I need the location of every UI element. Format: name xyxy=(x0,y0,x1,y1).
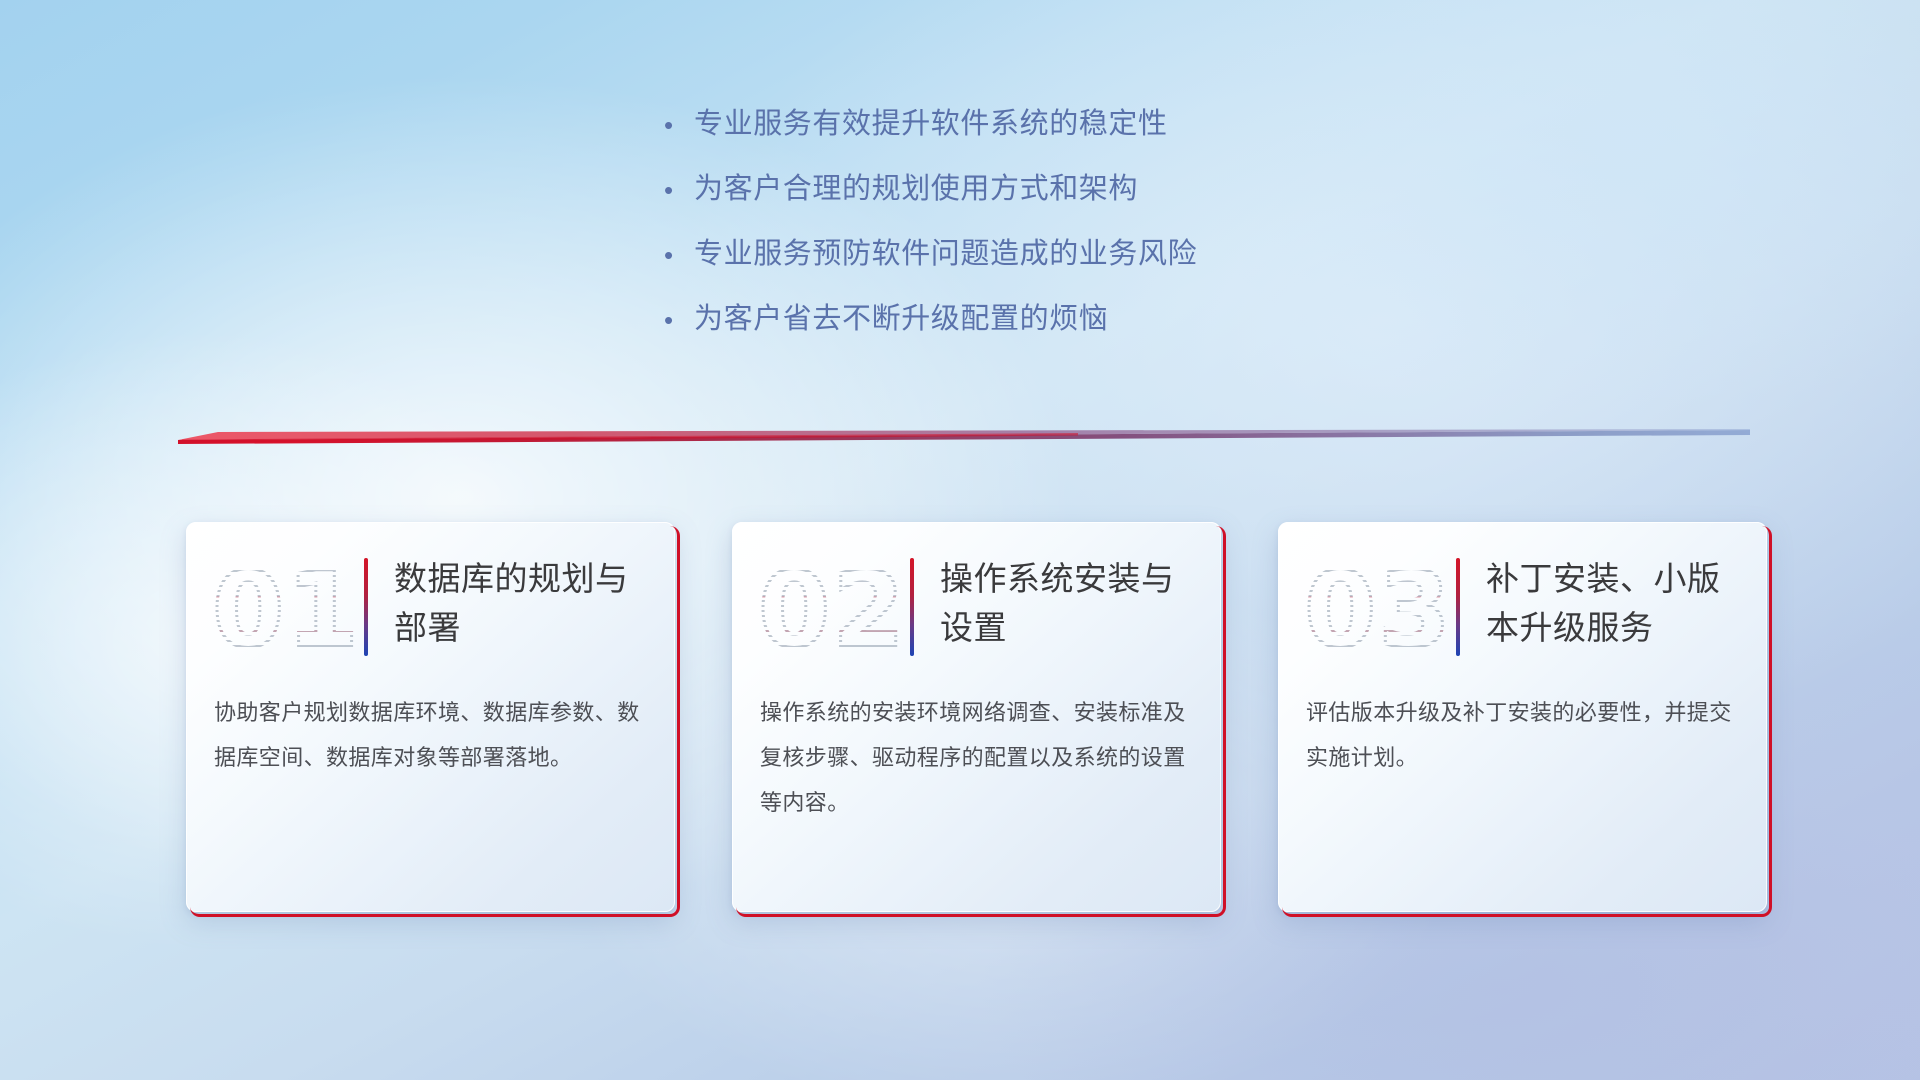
card-number-glyph-accent: 03 xyxy=(1304,550,1448,670)
card-title: 补丁安装、小版本升级服务 xyxy=(1486,544,1737,652)
list-item: • 为客户省去不断升级配置的烦恼 xyxy=(664,299,1564,364)
feature-card-row: 01 01 数据库的规划与部署 协助客户规划数据库环境、数据库参数、数据库空间、… xyxy=(186,522,1767,912)
slide-canvas: • 专业服务有效提升软件系统的稳定性 • 为客户合理的规划使用方式和架构 • 专… xyxy=(0,0,1920,1080)
card-number: 01 01 xyxy=(212,550,356,670)
bullet-marker-icon: • xyxy=(664,235,694,275)
card-title: 操作系统安装与设置 xyxy=(940,544,1191,652)
feature-card[interactable]: 02 02 操作系统安装与设置 操作系统的安装环境网络调查、安装标准及复核步骤、… xyxy=(732,522,1221,912)
section-divider xyxy=(178,418,1750,444)
card-title: 数据库的规划与部署 xyxy=(394,544,645,652)
bullet-list: • 专业服务有效提升软件系统的稳定性 • 为客户合理的规划使用方式和架构 • 专… xyxy=(664,104,1564,364)
card-number: 03 03 xyxy=(1304,550,1448,670)
bullet-text: 专业服务有效提升软件系统的稳定性 xyxy=(694,104,1168,144)
bullet-text: 为客户合理的规划使用方式和架构 xyxy=(694,169,1138,209)
card-body-text: 评估版本升级及补丁安装的必要性，并提交实施计划。 xyxy=(1278,690,1767,780)
card-accent-bar xyxy=(1456,558,1460,656)
card-header: 02 02 操作系统安装与设置 xyxy=(732,522,1221,690)
card-body-text: 操作系统的安装环境网络调查、安装标准及复核步骤、驱动程序的配置以及系统的设置等内… xyxy=(732,690,1221,825)
bullet-marker-icon: • xyxy=(664,170,694,210)
feature-card[interactable]: 01 01 数据库的规划与部署 协助客户规划数据库环境、数据库参数、数据库空间、… xyxy=(186,522,675,912)
bullet-marker-icon: • xyxy=(664,105,694,145)
card-accent-bar xyxy=(364,558,368,656)
list-item: • 为客户合理的规划使用方式和架构 xyxy=(664,169,1564,234)
bullet-marker-icon: • xyxy=(664,300,694,340)
feature-card[interactable]: 03 03 补丁安装、小版本升级服务 评估版本升级及补丁安装的必要性，并提交实施… xyxy=(1278,522,1767,912)
bullet-text: 为客户省去不断升级配置的烦恼 xyxy=(694,299,1108,339)
card-header: 03 03 补丁安装、小版本升级服务 xyxy=(1278,522,1767,690)
list-item: • 专业服务有效提升软件系统的稳定性 xyxy=(664,104,1564,169)
card-number: 02 02 xyxy=(758,550,902,670)
card-accent-bar xyxy=(910,558,914,656)
card-header: 01 01 数据库的规划与部署 xyxy=(186,522,675,690)
card-number-glyph-accent: 02 xyxy=(758,550,902,670)
list-item: • 专业服务预防软件问题造成的业务风险 xyxy=(664,234,1564,299)
card-body-text: 协助客户规划数据库环境、数据库参数、数据库空间、数据库对象等部署落地。 xyxy=(186,690,675,780)
bullet-text: 专业服务预防软件问题造成的业务风险 xyxy=(694,234,1197,274)
card-number-glyph-accent: 01 xyxy=(212,550,356,670)
divider-wedge-icon xyxy=(178,418,1750,444)
